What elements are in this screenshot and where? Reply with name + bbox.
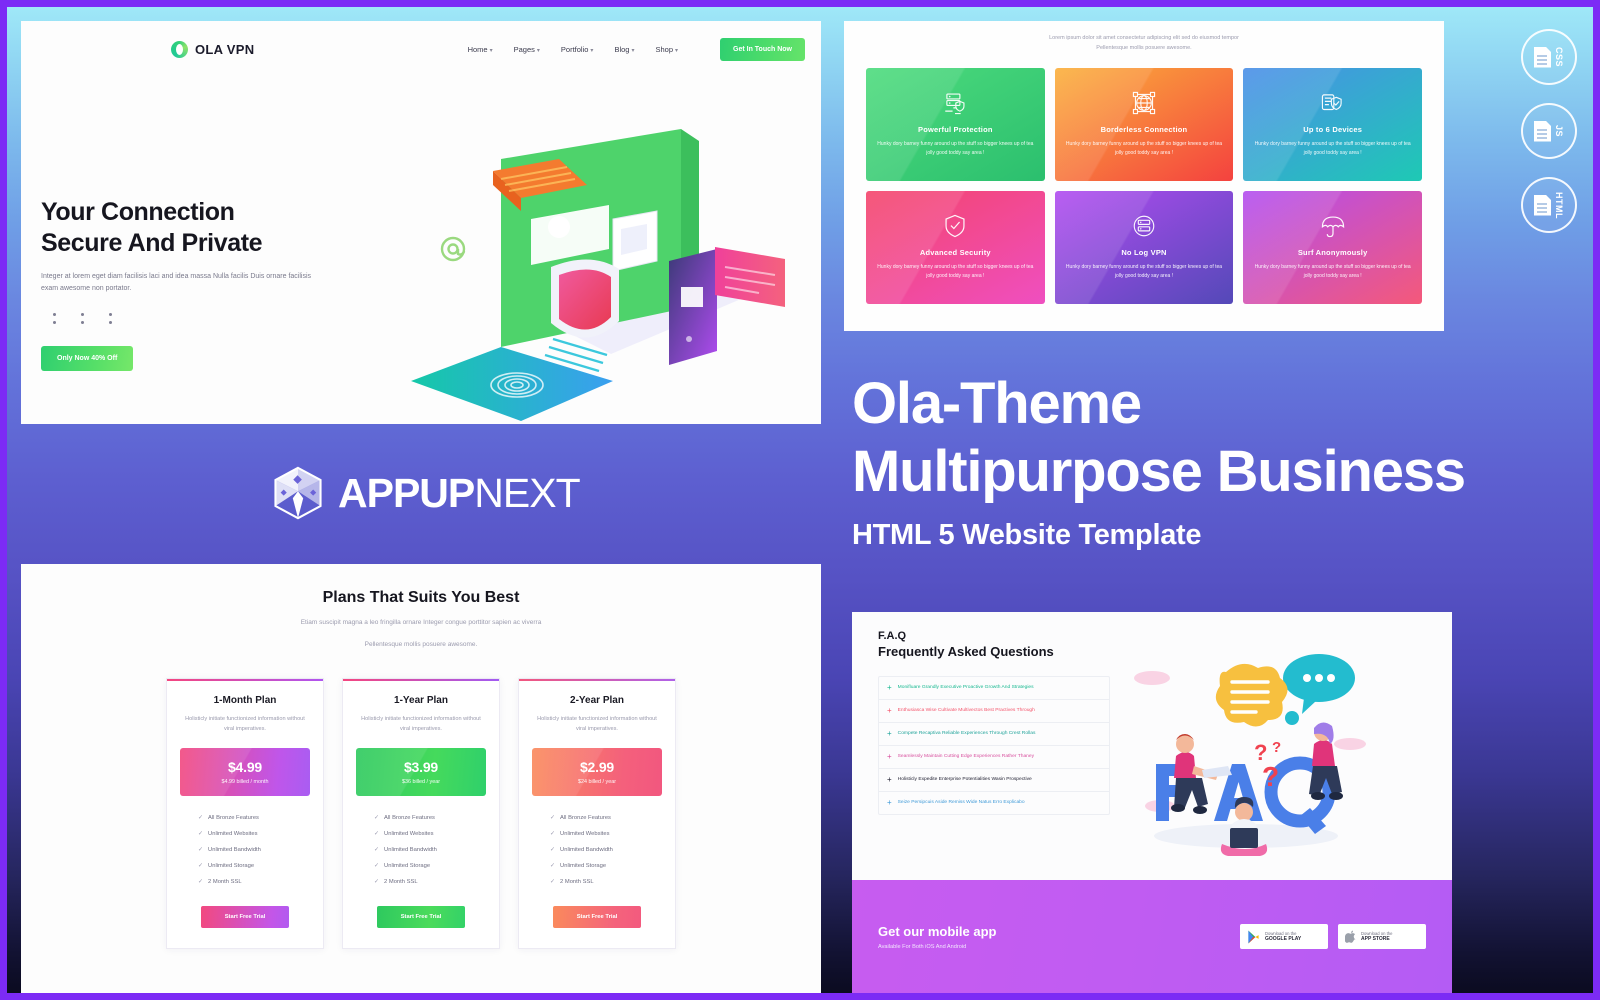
plan-feature: ✓Unlimited Storage [550, 862, 662, 869]
check-icon: ✓ [374, 862, 379, 869]
plan-desc: Holisticly initiate functionized informa… [180, 714, 310, 735]
features-lede: Lorem ipsum dolor sit amet consectetur a… [866, 31, 1422, 54]
file-icon [1534, 121, 1551, 142]
google-play-text: Download on the GOOGLE PLAY [1265, 931, 1301, 943]
plan-feature: ✓2 Month SSL [374, 878, 486, 885]
plan-feature-label: Unlimited Storage [208, 863, 254, 869]
faq-accordion: +Monifluare Grandly Executive Proactive … [878, 676, 1110, 815]
plan-feature-label: Unlimited Storage [560, 863, 606, 869]
faq-people-illustration: ? ? ? [1110, 630, 1436, 880]
feature-card-text: Hunky dory barney funny around up the st… [877, 140, 1034, 159]
plan-feature: ✓Unlimited Websites [374, 830, 486, 837]
hero-social-dots [41, 313, 371, 324]
pricing-sub-line2: Pellentesque mollis posuere awesome. [41, 639, 801, 651]
svg-text:?: ? [1272, 739, 1281, 756]
pricing-screenshot-panel: Plans That Suits You Best Etiam suscipit… [21, 564, 821, 993]
check-icon: ✓ [198, 878, 203, 885]
check-icon: ✓ [374, 814, 379, 821]
plan-name: 1-Year Plan [356, 695, 486, 706]
faq-item[interactable]: +Holisticly Expedite Enterprise Potentia… [879, 769, 1109, 792]
plan-feature-label: Unlimited Bandwidth [384, 847, 437, 853]
features-screenshot-panel: Lorem ipsum dolor sit amet consectetur a… [844, 21, 1444, 331]
plan-feature-label: 2 Month SSL [384, 879, 418, 885]
faq-item[interactable]: +Compete Recaptiva Reliable Experiences … [879, 723, 1109, 746]
check-icon: ✓ [550, 878, 555, 885]
feature-card-title: Up to 6 Devices [1303, 125, 1362, 134]
feature-card-text: Hunky dory barney funny around up the st… [1066, 263, 1223, 282]
faq-title-small: F.A.Q [878, 630, 1110, 642]
plan-name: 1-Month Plan [180, 695, 310, 706]
feature-card-text: Hunky dory barney funny around up the st… [1066, 140, 1223, 159]
plan-feature-list: ✓All Bronze Features✓Unlimited Websites✓… [356, 814, 486, 885]
plan-feature-label: Unlimited Websites [208, 831, 258, 837]
hero-copy: Your Connection Secure And Private Integ… [41, 77, 371, 424]
plan-feature: ✓Unlimited Storage [374, 862, 486, 869]
plus-icon: + [887, 707, 892, 715]
plan-feature: ✓Unlimited Websites [550, 830, 662, 837]
plus-icon: + [887, 730, 892, 738]
plan-price-box: $4.99$4.99 billed / month [180, 748, 310, 796]
brand-bold: APPUP [338, 470, 474, 516]
faq-left-column: F.A.Q Frequently Asked Questions +Monifl… [878, 630, 1110, 880]
hero-title-line1: Your Connection [41, 197, 371, 228]
tech-badges: CSS JS HTML [1521, 29, 1577, 233]
cube-logo-icon [272, 465, 324, 521]
plan-desc: Holisticly initiate functionized informa… [356, 714, 486, 735]
appupnext-wordmark: APPUPNEXT [338, 473, 580, 514]
faq-item-label: Enthusiasca Wise Cultivate Multivectos B… [898, 708, 1035, 714]
title-line-1: Ola-Theme [852, 370, 1552, 438]
plan-price-box: $3.99$36 billed / year [356, 748, 486, 796]
plan-feature-label: Unlimited Bandwidth [208, 847, 261, 853]
faq-item-label: Monifluare Grandly Executive Proactive G… [898, 685, 1034, 691]
plan-price: $2.99 [538, 759, 656, 775]
shield-check-icon [942, 213, 968, 239]
hero-title-line2: Secure And Private [41, 228, 371, 259]
plan-feature-label: Unlimited Storage [384, 863, 430, 869]
css-badge-label: CSS [1554, 47, 1564, 67]
brand-name: OLA VPN [195, 42, 254, 57]
faq-item[interactable]: +Monifluare Grandly Executive Proactive … [879, 677, 1109, 700]
css-badge: CSS [1521, 29, 1577, 85]
site-logo[interactable]: OLA VPN [171, 41, 254, 58]
plan-feature-label: Unlimited Bandwidth [560, 847, 613, 853]
js-badge: JS [1521, 103, 1577, 159]
pricing-heading: Plans That Suits You Best [41, 589, 801, 607]
plan-name: 2-Year Plan [532, 695, 662, 706]
plan-feature: ✓Unlimited Websites [198, 830, 310, 837]
server-shield-icon [942, 90, 968, 116]
plan-feature: ✓All Bronze Features [374, 814, 486, 821]
plan-price-box: $2.99$24 billed / year [532, 748, 662, 796]
title-line-2: Multipurpose Business [852, 438, 1552, 506]
plan-feature: ✓Unlimited Bandwidth [198, 846, 310, 853]
title-line-3: HTML 5 Website Template [852, 519, 1552, 552]
plan-feature: ✓Unlimited Storage [198, 862, 310, 869]
feature-card-text: Hunky dory barney funny around up the st… [1254, 140, 1411, 159]
app-store-text: Download on the APP STORE [1361, 931, 1392, 943]
plan-feature-list: ✓All Bronze Features✓Unlimited Websites✓… [532, 814, 662, 885]
plan-price: $3.99 [362, 759, 480, 775]
feature-card[interactable]: Advanced SecurityHunky dory barney funny… [866, 191, 1045, 304]
svg-text:?: ? [1262, 761, 1279, 792]
feature-card-grid: Powerful ProtectionHunky dory barney fun… [866, 68, 1422, 304]
google-play-button[interactable]: Download on the GOOGLE PLAY [1240, 924, 1328, 949]
feature-card-text: Hunky dory barney funny around up the st… [877, 263, 1034, 282]
pricing-card: 1-Month PlanHolisticly initiate function… [166, 678, 324, 950]
mobile-app-cta: Get our mobile app Available For Both iO… [852, 880, 1452, 993]
get-in-touch-button[interactable]: Get In Touch Now [720, 38, 805, 61]
poster-stage: OLA VPN Home▾ Pages▾ Portfolio▾ Blog▾ Sh… [0, 0, 1600, 1000]
feature-card[interactable]: Up to 6 DevicesHunky dory barney funny a… [1243, 68, 1422, 181]
plan-billing: $36 billed / year [362, 779, 480, 785]
plan-feature: ✓2 Month SSL [550, 878, 662, 885]
chevron-down-icon: ▾ [490, 48, 493, 54]
features-lede-line1: Lorem ipsum dolor sit amet consectetur a… [926, 33, 1362, 43]
faq-item-label: Seize Persipcuis Aside Remiss Wide Natus… [898, 800, 1025, 806]
pricing-card: 2-Year PlanHolisticly initiate functioni… [518, 678, 676, 950]
nav-item-shop[interactable]: Shop▾ [655, 45, 678, 54]
faq-top: F.A.Q Frequently Asked Questions +Monifl… [852, 612, 1452, 880]
pricing-card: 1-Year PlanHolisticly initiate functioni… [342, 678, 500, 950]
pricing-plan-list: 1-Month PlanHolisticly initiate function… [41, 678, 801, 950]
google-play-icon [1247, 930, 1260, 944]
plan-billing: $24 billed / year [538, 779, 656, 785]
feature-card[interactable]: Powerful ProtectionHunky dory barney fun… [866, 68, 1045, 181]
plus-icon: + [887, 753, 892, 761]
plan-desc: Holisticly initiate functionized informa… [532, 714, 662, 735]
faq-item[interactable]: +Enthusiasca Wise Cultivate Multivectos … [879, 700, 1109, 723]
faq-item-label: Seamlessly Maintain Cutting Edge Experie… [898, 754, 1034, 760]
plan-feature-label: 2 Month SSL [208, 879, 242, 885]
chevron-down-icon: ▾ [675, 48, 678, 54]
faq-item-label: Compete Recaptiva Reliable Experiences T… [898, 731, 1036, 737]
nav-item-portfolio[interactable]: Portfolio▾ [561, 45, 594, 54]
js-badge-label: JS [1554, 125, 1564, 137]
plus-icon: + [887, 776, 892, 784]
feature-card-title: Advanced Security [920, 248, 991, 257]
check-icon: ✓ [550, 846, 555, 853]
plus-icon: + [887, 799, 892, 807]
umbrella-icon [1320, 213, 1346, 239]
feature-card-title: Powerful Protection [918, 125, 993, 134]
start-free-trial-button[interactable]: Start Free Trial [201, 906, 289, 928]
plan-billing: $4.99 billed / month [186, 779, 304, 785]
chevron-down-icon: ▾ [537, 48, 540, 54]
plan-feature: ✓All Bronze Features [198, 814, 310, 821]
mobile-cta-heading: Get our mobile app [878, 924, 996, 939]
plan-feature: ✓2 Month SSL [198, 878, 310, 885]
plan-price: $4.99 [186, 759, 304, 775]
nav-item-blog[interactable]: Blog▾ [614, 45, 634, 54]
chevron-down-icon: ▾ [631, 48, 634, 54]
feature-card[interactable]: No Log VPNHunky dory barney funny around… [1055, 191, 1234, 304]
plus-icon: + [887, 684, 892, 692]
devices-shield-icon [1320, 90, 1346, 116]
mobile-cta-sub: Available For Both iOS And Android [878, 944, 996, 950]
nav-links: Home▾ Pages▾ Portfolio▾ Blog▾ Shop▾ Get … [468, 38, 805, 61]
check-icon: ✓ [198, 862, 203, 869]
plan-feature-label: 2 Month SSL [560, 879, 594, 885]
check-icon: ✓ [550, 814, 555, 821]
appupnext-brand: APPUPNEXT [272, 465, 580, 521]
check-icon: ✓ [550, 830, 555, 837]
hero-title: Your Connection Secure And Private [41, 197, 371, 258]
feature-card-title: Borderless Connection [1101, 125, 1188, 134]
brand-light: NEXT [474, 470, 579, 516]
faq-screenshot-panel: F.A.Q Frequently Asked Questions +Monifl… [852, 612, 1452, 993]
html-badge-label: HTML [1554, 192, 1564, 219]
faq-item[interactable]: +Seamlessly Maintain Cutting Edge Experi… [879, 746, 1109, 769]
feature-card-title: No Log VPN [1121, 248, 1166, 257]
plan-feature: ✓Unlimited Bandwidth [550, 846, 662, 853]
globe-network-icon [1131, 90, 1157, 116]
dot-group [81, 313, 84, 324]
store-badges: Download on the GOOGLE PLAY Download on … [1240, 924, 1426, 949]
faq-title-big: Frequently Asked Questions [878, 644, 1110, 659]
nav-item-pages[interactable]: Pages▾ [514, 45, 540, 54]
hero-subtitle: Integer at lorem eget diam facilisis lac… [41, 271, 311, 296]
nav-item-home[interactable]: Home▾ [468, 45, 493, 54]
check-icon: ✓ [198, 814, 203, 821]
check-icon: ✓ [198, 846, 203, 853]
plan-feature-label: All Bronze Features [384, 815, 435, 821]
hero-isometric-illustration [371, 77, 821, 424]
feature-card-title: Surf Anonymously [1298, 248, 1368, 257]
faq-item[interactable]: +Seize Persipcuis Aside Remiss Wide Natu… [879, 792, 1109, 814]
file-icon [1534, 195, 1551, 216]
feature-card-text: Hunky dory barney funny around up the st… [1254, 263, 1411, 282]
ola-vpn-logo-icon [171, 41, 188, 58]
feature-card[interactable]: Surf AnonymouslyHunky dory barney funny … [1243, 191, 1422, 304]
html-badge: HTML [1521, 177, 1577, 233]
file-icon [1534, 47, 1551, 68]
check-icon: ✓ [198, 830, 203, 837]
check-icon: ✓ [374, 878, 379, 885]
start-free-trial-button[interactable]: Start Free Trial [553, 906, 641, 928]
pricing-sub-line1: Etiam suscipit magna a leo fringilla orn… [41, 617, 801, 629]
faq-item-label: Holisticly Expedite Enterprise Potential… [898, 777, 1032, 783]
chevron-down-icon: ▾ [590, 48, 593, 54]
plan-feature-list: ✓All Bronze Features✓Unlimited Websites✓… [180, 814, 310, 885]
plan-feature-label: Unlimited Websites [560, 831, 610, 837]
hero-body: Your Connection Secure And Private Integ… [21, 77, 821, 424]
dot-group [53, 313, 56, 324]
dot-group [109, 313, 112, 324]
start-free-trial-button[interactable]: Start Free Trial [377, 906, 465, 928]
site-navbar: OLA VPN Home▾ Pages▾ Portfolio▾ Blog▾ Sh… [21, 21, 821, 77]
feature-card[interactable]: Borderless ConnectionHunky dory barney f… [1055, 68, 1234, 181]
plan-feature-label: All Bronze Features [560, 815, 611, 821]
poster-title-block: Ola-Theme Multipurpose Business HTML 5 W… [852, 370, 1552, 552]
plan-feature-label: All Bronze Features [208, 815, 259, 821]
app-store-button[interactable]: Download on the APP STORE [1338, 924, 1426, 949]
google-play-bottom: GOOGLE PLAY [1265, 936, 1301, 942]
plan-feature: ✓All Bronze Features [550, 814, 662, 821]
plan-feature-label: Unlimited Websites [384, 831, 434, 837]
check-icon: ✓ [374, 830, 379, 837]
features-lede-line2: Pellentesque mollis posuere awesome. [926, 43, 1362, 53]
check-icon: ✓ [550, 862, 555, 869]
plan-feature: ✓Unlimited Bandwidth [374, 846, 486, 853]
pricing-header: Plans That Suits You Best Etiam suscipit… [41, 589, 801, 652]
app-store-bottom: APP STORE [1361, 936, 1392, 942]
no-log-server-icon [1131, 213, 1157, 239]
apple-icon [1345, 930, 1356, 944]
check-icon: ✓ [374, 846, 379, 853]
offer-button[interactable]: Only Now 40% Off [41, 346, 133, 371]
mobile-cta-text: Get our mobile app Available For Both iO… [878, 924, 996, 950]
hero-screenshot-panel: OLA VPN Home▾ Pages▾ Portfolio▾ Blog▾ Sh… [21, 21, 821, 424]
